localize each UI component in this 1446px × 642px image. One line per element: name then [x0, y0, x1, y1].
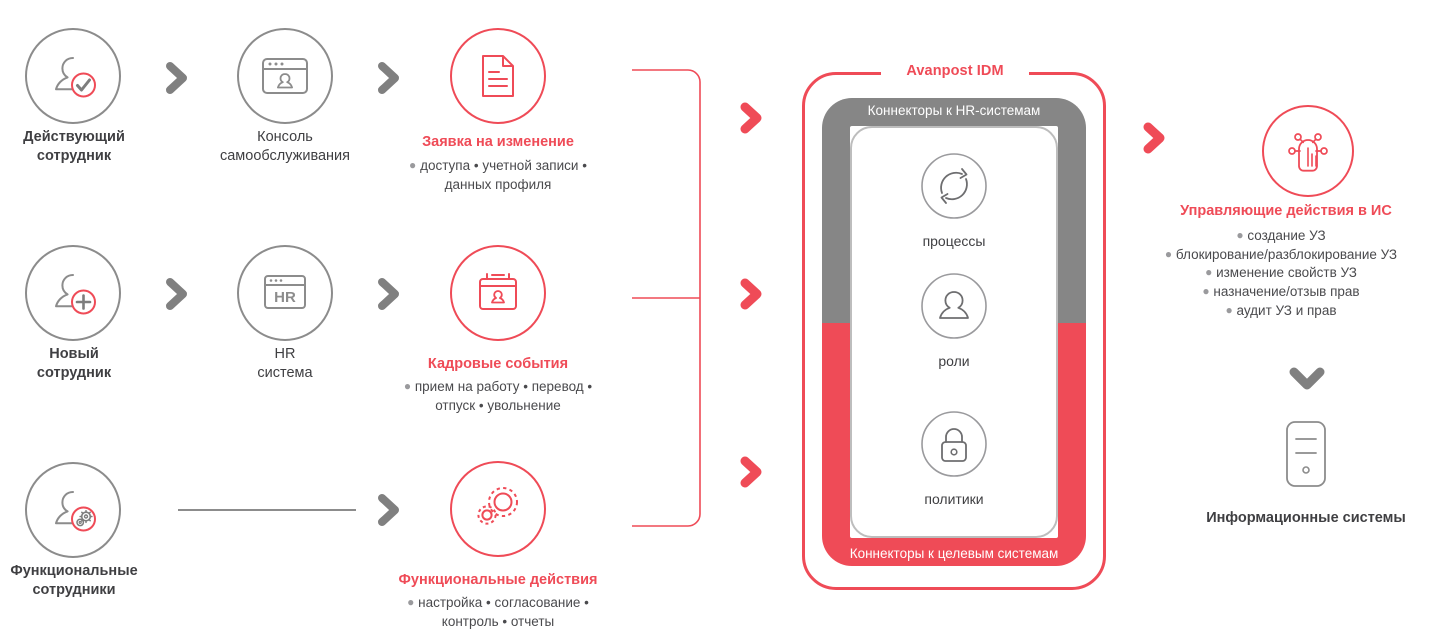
server-tower-icon: [1283, 418, 1329, 490]
row2-event-detail-line1: ● прием на работу • перевод •: [378, 378, 618, 397]
row2-chevron-1-icon: [158, 274, 198, 319]
idm-input-chevron-1-icon: [732, 98, 772, 143]
row1-actor-label-line2: сотрудник: [0, 147, 148, 166]
row2-event-title: Кадровые события: [378, 355, 618, 374]
row1-actor-label: Действующий сотрудник: [0, 128, 148, 166]
row1-event-icon-circle: [450, 28, 546, 124]
diagram-canvas: Действующий сотрудник Консоль самообслуж…: [0, 0, 1446, 642]
row1-actor-label-line1: Действующий: [0, 128, 148, 147]
aggregation-bracket: [630, 68, 710, 533]
row2-event-icon-circle: [450, 245, 546, 341]
idm-title: Avanpost IDM: [881, 63, 1029, 79]
row3-chevron-icon: [370, 490, 410, 535]
row3-event-details: ● настройка • согласование • контроль • …: [368, 594, 628, 631]
row1-channel-icon-circle: [237, 28, 333, 124]
row3-actor-label: Функциональные сотрудники: [0, 562, 148, 600]
target-system-icon-wrap: [1283, 418, 1329, 495]
document-icon: [474, 50, 522, 102]
hr-window-icon: HR: [259, 270, 311, 316]
row3-event-icon-circle: [450, 461, 546, 557]
row2-event-detail-line2: отпуск • увольнение: [378, 397, 618, 416]
hand-network-icon: [1277, 120, 1339, 182]
user-check-icon: [42, 45, 104, 107]
browser-user-icon: [257, 51, 313, 101]
output-bullet-2: ● изменение свойств УЗ: [1116, 264, 1446, 283]
lock-icon: [920, 410, 988, 478]
row3-actor-label-line1: Функциональные: [0, 562, 148, 581]
output-bullet-1: ● блокирование/разблокирование УЗ: [1116, 246, 1446, 265]
row1-actor-icon-circle: [25, 28, 121, 124]
row2-channel-label-line2: система: [211, 364, 359, 383]
idm-hr-connectors-label: Коннекторы к HR-системам: [822, 103, 1086, 118]
row2-channel-label-line1: HR: [211, 345, 359, 364]
output-chevron-icon: [1135, 118, 1175, 163]
row3-event-detail-line2: контроль • отчеты: [368, 613, 628, 632]
output-bullet-0: ● создание УЗ: [1116, 227, 1446, 246]
target-system-label: Информационные системы: [1156, 509, 1446, 528]
row2-actor-label-line2: сотрудник: [0, 364, 148, 383]
row1-channel-label-line2: самообслуживания: [211, 147, 359, 166]
row3-event-detail-line1: ● настройка • согласование •: [368, 594, 628, 613]
row1-event-detail-line2: данных профиля: [378, 176, 618, 195]
svg-text:HR: HR: [274, 289, 296, 306]
row1-event-title: Заявка на изменение: [378, 133, 618, 152]
row2-actor-icon-circle: [25, 245, 121, 341]
idm-item-processes-label: процессы: [850, 233, 1058, 249]
row1-chevron-2-icon: [370, 58, 410, 103]
idm-item-roles: роли: [850, 272, 1058, 369]
row2-actor-label: Новый сотрудник: [0, 345, 148, 383]
row2-channel-label: HR система: [211, 345, 359, 383]
idm-target-connectors-label: Коннекторы к целевым системам: [822, 546, 1086, 561]
idm-item-roles-label: роли: [850, 353, 1058, 369]
idm-item-policies: политики: [850, 410, 1058, 507]
idm-input-chevron-3-icon: [732, 452, 772, 497]
output-bullet-list: ● создание УЗ ● блокирование/разблокиров…: [1116, 227, 1446, 320]
row3-connector-line: [178, 509, 356, 511]
row2-chevron-2-icon: [370, 274, 410, 319]
row1-chevron-1-icon: [158, 58, 198, 103]
idm-item-policies-label: политики: [850, 491, 1058, 507]
gears-icon: [469, 481, 527, 537]
row2-channel-icon-circle: HR: [237, 245, 333, 341]
row1-channel-label: Консоль самообслуживания: [211, 128, 359, 166]
user-icon: [920, 272, 988, 340]
calendar-user-icon: [472, 267, 524, 319]
row1-channel-label-line1: Консоль: [211, 128, 359, 147]
row3-event-title: Функциональные действия: [368, 571, 628, 590]
output-down-chevron-icon: [1285, 363, 1329, 402]
idm-item-processes: процессы: [850, 152, 1058, 249]
row3-actor-icon-circle: [25, 462, 121, 558]
output-title: Управляющие действия в ИС: [1126, 202, 1446, 221]
idm-input-chevron-2-icon: [732, 274, 772, 319]
row1-event-details: ● доступа • учетной записи • данных проф…: [378, 157, 618, 194]
output-bullet-4: ● аудит УЗ и прав: [1116, 302, 1446, 321]
row2-actor-label-line1: Новый: [0, 345, 148, 364]
output-icon-circle: [1262, 105, 1354, 197]
user-gear-icon: [42, 479, 104, 541]
row3-actor-label-line2: сотрудники: [0, 581, 148, 600]
row2-event-details: ● прием на работу • перевод • отпуск • у…: [378, 378, 618, 415]
output-bullet-3: ● назначение/отзыв прав: [1116, 283, 1446, 302]
user-plus-icon: [42, 262, 104, 324]
refresh-cycle-icon: [920, 152, 988, 220]
row1-event-detail-line1: ● доступа • учетной записи •: [378, 157, 618, 176]
